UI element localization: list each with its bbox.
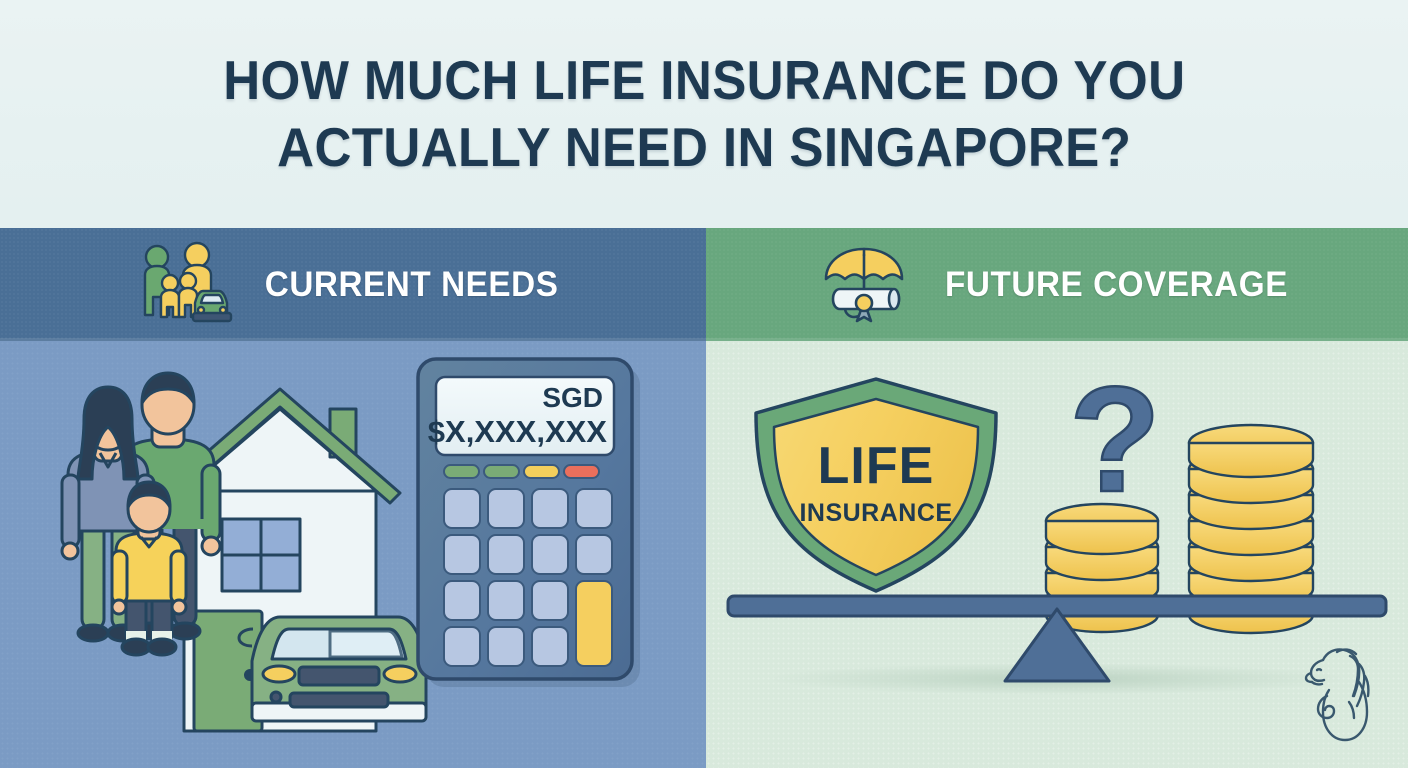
infographic-canvas: HOW MUCH LIFE INSURANCE DO YOU ACTUALLY … — [0, 0, 1408, 768]
current-needs-illustration: SGD $X,XXX,XXX — [0, 341, 706, 768]
header-future-coverage: FUTURE COVERAGE — [706, 228, 1408, 341]
header-label-future-coverage: FUTURE COVERAGE — [945, 265, 1288, 305]
merlion-logo — [1293, 636, 1391, 756]
title-band: HOW MUCH LIFE INSURANCE DO YOU ACTUALLY … — [0, 0, 1408, 228]
umbrella-diploma-icon — [818, 241, 914, 329]
page-title-line2: ACTUALLY NEED IN SINGAPORE? — [277, 115, 1131, 180]
shield-label-line1: LIFE — [818, 437, 935, 495]
calc-enter-key — [576, 581, 612, 666]
family-car-icon — [139, 241, 235, 329]
calc-function-key-1 — [444, 465, 479, 478]
calc-function-key-4 — [564, 465, 599, 478]
panel-current-needs: SGD $X,XXX,XXX — [0, 341, 706, 768]
car-illustration — [239, 617, 426, 721]
calculator-currency-label: SGD — [542, 382, 603, 413]
header-current-needs: CURRENT NEEDS — [0, 228, 706, 341]
calculator-amount: $X,XXX,XXX — [428, 414, 608, 449]
family-illustration — [62, 373, 220, 655]
page-title-line1: HOW MUCH LIFE INSURANCE DO YOU — [223, 48, 1185, 113]
calc-function-key-2 — [484, 465, 519, 478]
header-label-current-needs: CURRENT NEEDS — [265, 265, 559, 305]
question-mark-icon: ? — [1069, 355, 1161, 523]
life-insurance-shield: LIFE INSURANCE — [756, 379, 996, 591]
calc-function-key-3 — [524, 465, 559, 478]
shield-label-line2: INSURANCE — [799, 499, 952, 527]
svg-text:?: ? — [1069, 355, 1161, 523]
calculator-illustration: SGD $X,XXX,XXX — [418, 359, 640, 687]
